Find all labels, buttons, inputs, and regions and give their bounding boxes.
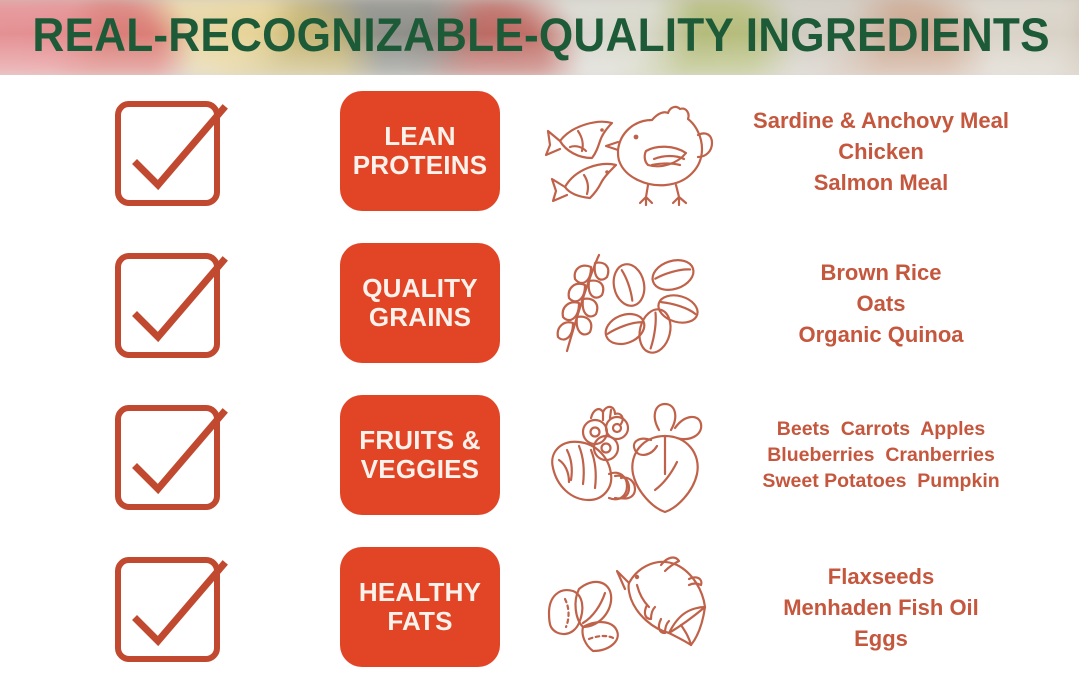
- checkmark-box-icon: [111, 548, 229, 666]
- badge-cell: QUALITY GRAINS: [340, 243, 530, 363]
- row-quality-grains: QUALITY GRAINS: [0, 227, 1079, 379]
- badge-line-2: VEGGIES: [361, 455, 479, 484]
- badge-quality-grains: QUALITY GRAINS: [340, 243, 500, 363]
- checkbox-cell: [0, 244, 340, 362]
- ingredient-line: Menhaden Fish Oil: [783, 592, 979, 623]
- sweet-potato-berries-beet-icon: [545, 396, 710, 514]
- header-banner: REAL-RECOGNIZABLE-QUALITY INGREDIENTS: [0, 0, 1079, 75]
- ingredient-line: Organic Quinoa: [798, 319, 963, 350]
- checkbox-cell: [0, 92, 340, 210]
- badge-line-1: HEALTHY: [359, 578, 481, 607]
- badge-cell: HEALTHY FATS: [340, 547, 530, 667]
- badge-healthy-fats: HEALTHY FATS: [340, 547, 500, 667]
- checkbox-cell: [0, 548, 340, 666]
- ingredient-line: Chicken: [838, 136, 924, 167]
- badge-line-2: GRAINS: [369, 303, 471, 332]
- ingredient-line: Sweet Potatoes Pumpkin: [762, 468, 999, 494]
- ingredient-list: Beets Carrots Apples Blueberries Cranber…: [725, 416, 1079, 494]
- ingredient-line: Salmon Meal: [814, 167, 948, 198]
- ingredient-line: Brown Rice: [820, 257, 941, 288]
- badge-cell: LEAN PROTEINS: [340, 91, 530, 211]
- checkmark-box-icon: [111, 92, 229, 210]
- badge-line-2: PROTEINS: [353, 151, 488, 180]
- ingredient-line: Beets Carrots Apples: [777, 416, 985, 442]
- checkmark-box-icon: [111, 396, 229, 514]
- fish-and-chicken-icon: [540, 95, 715, 207]
- ingredient-list: Flaxseeds Menhaden Fish Oil Eggs: [725, 561, 1079, 654]
- badge-fruits-veggies: FRUITS & VEGGIES: [340, 395, 500, 515]
- icon-cell: [530, 549, 725, 665]
- ingredient-line: Flaxseeds: [828, 561, 934, 592]
- infographic-page: REAL-RECOGNIZABLE-QUALITY INGREDIENTS LE…: [0, 0, 1079, 682]
- row-healthy-fats: HEALTHY FATS: [0, 531, 1079, 683]
- row-fruits-veggies: FRUITS & VEGGIES: [0, 379, 1079, 531]
- badge-cell: FRUITS & VEGGIES: [340, 395, 530, 515]
- badge-lean-proteins: LEAN PROTEINS: [340, 91, 500, 211]
- ingredient-list: Sardine & Anchovy Meal Chicken Salmon Me…: [725, 105, 1079, 198]
- checkmark-box-icon: [111, 244, 229, 362]
- icon-cell: [530, 396, 725, 514]
- flaxseeds-and-fish-icon: [543, 549, 713, 665]
- icon-cell: [530, 247, 725, 359]
- wheat-and-grains-icon: [545, 247, 710, 359]
- row-lean-proteins: LEAN PROTEINS: [0, 75, 1079, 227]
- ingredient-line: Oats: [857, 288, 906, 319]
- page-title: REAL-RECOGNIZABLE-QUALITY INGREDIENTS: [32, 6, 1046, 64]
- ingredient-rows: LEAN PROTEINS: [0, 75, 1079, 682]
- badge-line-1: LEAN: [384, 122, 456, 151]
- badge-line-1: FRUITS &: [359, 426, 480, 455]
- checkbox-cell: [0, 396, 340, 514]
- ingredient-line: Blueberries Cranberries: [767, 442, 995, 468]
- ingredient-line: Eggs: [854, 623, 908, 654]
- ingredient-list: Brown Rice Oats Organic Quinoa: [725, 257, 1079, 350]
- badge-line-2: FATS: [387, 607, 452, 636]
- badge-line-1: QUALITY: [362, 274, 478, 303]
- icon-cell: [530, 95, 725, 207]
- ingredient-line: Sardine & Anchovy Meal: [753, 105, 1009, 136]
